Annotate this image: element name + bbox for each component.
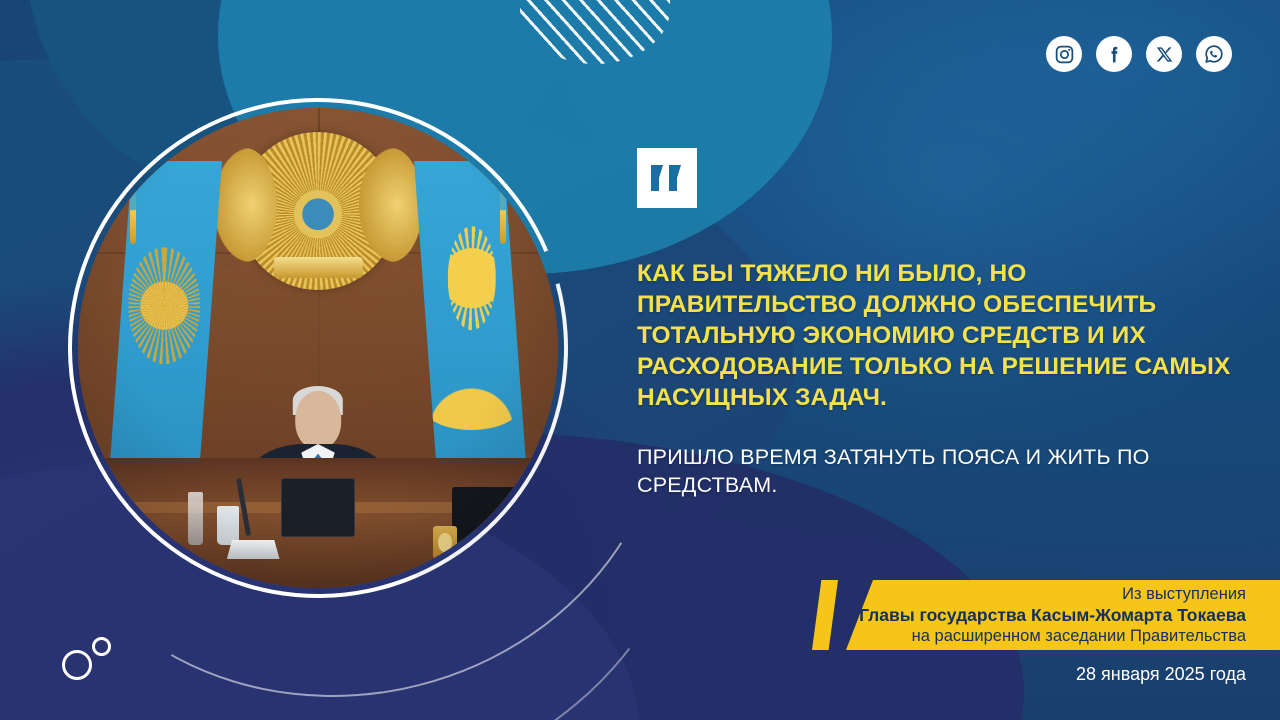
quote-secondary-text: ПРИШЛО ВРЕМЯ ЗАТЯНУТЬ ПОЯСА И ЖИТЬ ПО СР… (637, 443, 1237, 499)
social-link-facebook[interactable] (1096, 36, 1132, 72)
attribution-line-1: Из выступления (1122, 584, 1246, 604)
instagram-icon (1054, 44, 1075, 65)
x-twitter-icon (1155, 45, 1174, 64)
attribution-line-3: на расширенном заседании Правительства (912, 626, 1246, 647)
quote-primary-text: КАК БЫ ТЯЖЕЛО НИ БЫЛО, НО ПРАВИТЕЛЬСТВО … (637, 258, 1237, 413)
quote-mark-icon (637, 148, 697, 208)
social-link-x[interactable] (1146, 36, 1182, 72)
photo-vignette (78, 108, 558, 588)
quote-card: КАК БЫ ТЯЖЕЛО НИ БЫЛО, НО ПРАВИТЕЛЬСТВО … (0, 0, 1280, 720)
social-links (1046, 36, 1232, 72)
photo-circle (78, 108, 558, 588)
photo-image (78, 108, 558, 588)
diagonal-stripes-decoration (520, 0, 670, 64)
social-link-whatsapp[interactable] (1196, 36, 1232, 72)
decorative-ring-small (92, 637, 111, 656)
attribution-accent-stripe (812, 580, 838, 650)
attribution-date: 28 января 2025 года (1076, 664, 1246, 685)
decorative-ring-large (62, 650, 92, 680)
whatsapp-icon (1203, 43, 1225, 65)
facebook-icon (1104, 44, 1125, 65)
quote-block: КАК БЫ ТЯЖЕЛО НИ БЫЛО, НО ПРАВИТЕЛЬСТВО … (637, 258, 1237, 499)
attribution-panel: Из выступления Главы государства Касым-Ж… (846, 580, 1280, 650)
social-link-instagram[interactable] (1046, 36, 1082, 72)
attribution-line-2: Главы государства Касым-Жомарта Токаева (859, 604, 1246, 626)
attribution-banner: Из выступления Главы государства Касым-Ж… (812, 580, 1280, 650)
